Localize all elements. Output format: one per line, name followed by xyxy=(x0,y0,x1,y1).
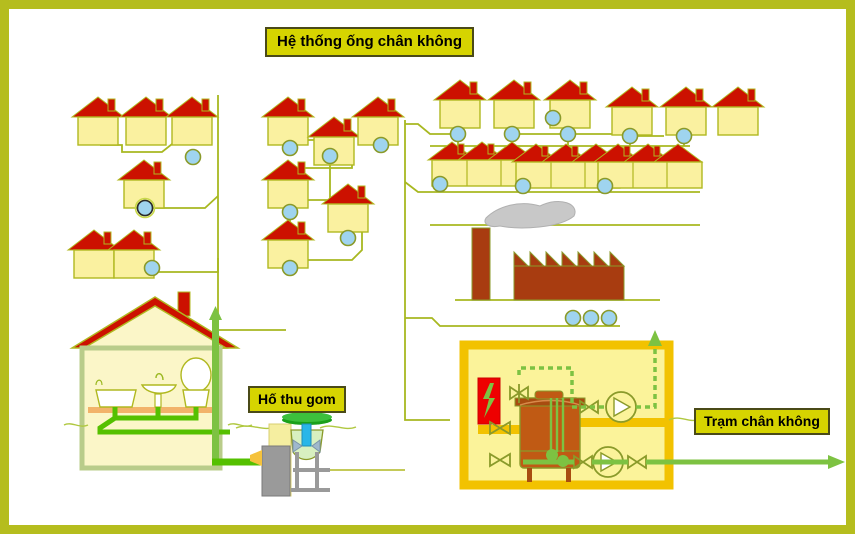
house-cutaway-section xyxy=(64,292,268,468)
row-houses xyxy=(428,142,702,188)
vacuum-station-label: Trạm chân không xyxy=(694,408,830,435)
diagram-graphics xyxy=(0,0,855,534)
valve-chambers-factory xyxy=(566,311,617,326)
toilet xyxy=(181,358,211,407)
single-family-houses-middle xyxy=(262,97,404,268)
collection-pit-label: Hố thu gom xyxy=(248,386,346,413)
diagram-canvas: Hệ thống ống chân không Hố thu gom Trạm … xyxy=(0,0,855,534)
single-family-houses-left xyxy=(68,97,218,278)
vacuum-inlet-arrow xyxy=(648,330,662,346)
collection-pit-assembly xyxy=(236,412,405,496)
factory-building xyxy=(472,201,624,300)
single-family-houses-upper-right xyxy=(434,80,764,135)
page-title: Hệ thống ống chân không xyxy=(265,27,474,57)
electrical-control-panel xyxy=(478,378,500,424)
